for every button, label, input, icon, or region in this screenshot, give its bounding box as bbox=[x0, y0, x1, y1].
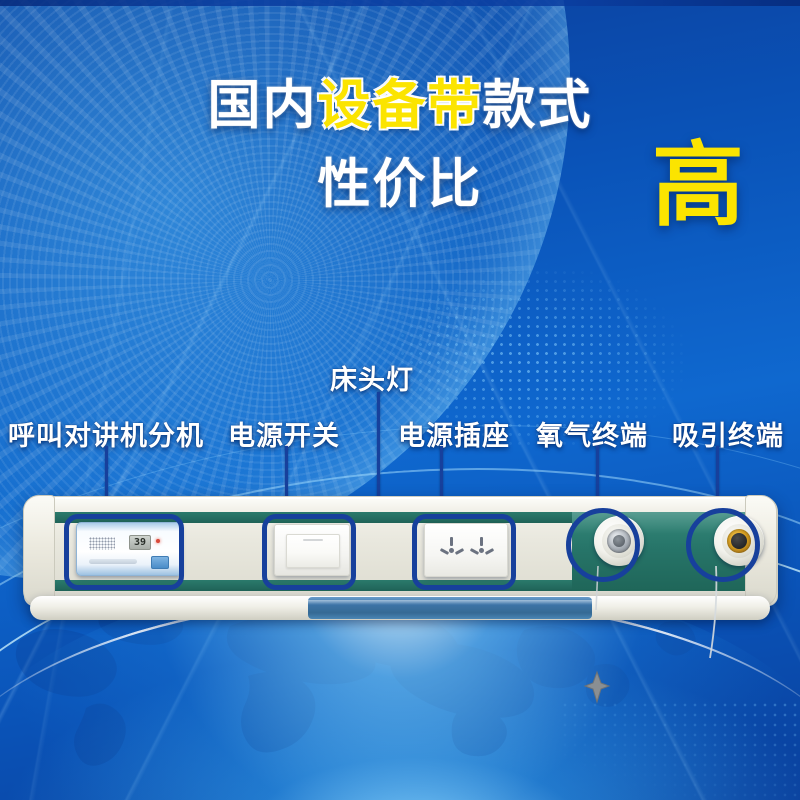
headline-part-2-highlight: 设备带 bbox=[318, 75, 483, 136]
callout-label-suction: 吸引终端 bbox=[672, 414, 784, 453]
top-band bbox=[0, 0, 800, 6]
headline-emphasis: 高 bbox=[652, 140, 744, 232]
highlight-box-suction bbox=[686, 508, 760, 582]
highlight-box-intercom bbox=[64, 514, 184, 590]
headline-line-1: 国内设备带款式 bbox=[0, 76, 800, 136]
headline-part-1: 国内 bbox=[208, 75, 318, 136]
callout-label-power-switch: 电源开关 bbox=[228, 414, 340, 453]
panel-end-cap-left bbox=[23, 495, 55, 607]
highlight-box-power-socket bbox=[412, 514, 516, 590]
product-banner: 国内设备带款式 性价比 高 呼叫对讲机分机 电源开关 床头灯 电源插座 氧气终端… bbox=[0, 0, 800, 800]
headline-part-3: 款式 bbox=[483, 75, 593, 136]
callout-label-power-socket: 电源插座 bbox=[398, 414, 510, 453]
panel-rail-glass-section bbox=[308, 597, 592, 619]
headline-subline: 性价比 bbox=[318, 154, 483, 215]
callout-label-bed-lamp: 床头灯 bbox=[330, 358, 414, 397]
callout-label-oxygen: 氧气终端 bbox=[536, 414, 648, 453]
highlight-box-oxygen bbox=[566, 508, 640, 582]
highlight-box-power-switch bbox=[262, 514, 356, 590]
